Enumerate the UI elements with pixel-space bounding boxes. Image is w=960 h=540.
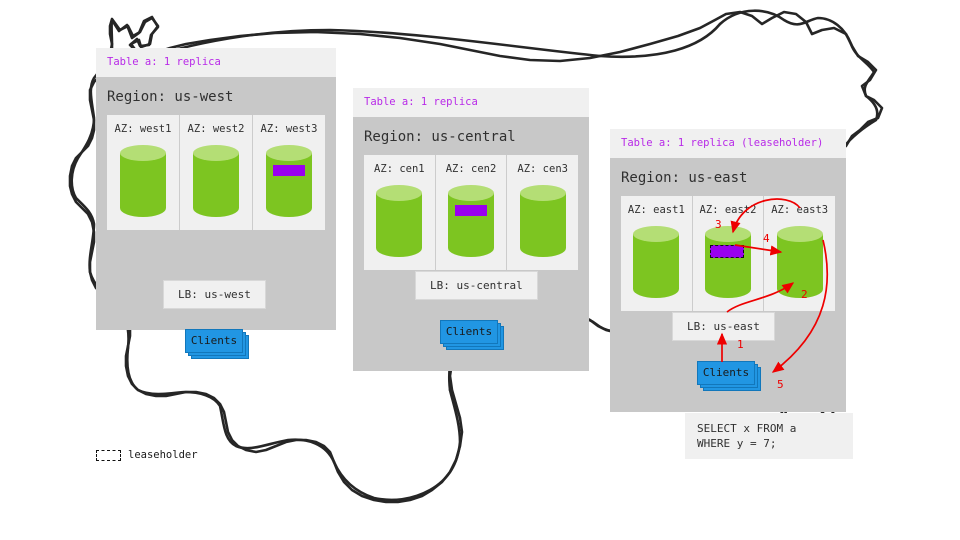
az-west2-label: AZ: west2 (180, 123, 252, 135)
az-east2-label: AZ: east2 (693, 204, 764, 216)
cylinder-top (266, 145, 312, 161)
sql-query-box: SELECT x FROM a WHERE y = 7; (685, 413, 853, 459)
arrow-step-3-number: 3 (715, 218, 722, 231)
legend-label: leaseholder (128, 449, 198, 461)
az-cen2[interactable]: AZ: cen2 (436, 155, 508, 270)
southwest-border (127, 348, 334, 462)
az-east1[interactable]: AZ: east1 (621, 196, 693, 311)
arrow-step-1-number: 1 (737, 338, 744, 351)
az-east1-label: AZ: east1 (621, 204, 692, 216)
az-west1-label: AZ: west1 (107, 123, 179, 135)
arrow-step-2-number: 2 (801, 288, 808, 301)
cylinder-body (266, 153, 312, 217)
legend: leaseholder (96, 449, 198, 461)
az-strip-us-west: AZ: west1 AZ: west2 AZ: west3 (107, 115, 325, 230)
node-cylinder-cen1[interactable] (376, 185, 422, 257)
load-balancer-us-west[interactable]: LB: us-west (163, 280, 266, 309)
cylinder-top (376, 185, 422, 201)
clients-us-west[interactable]: Clients (185, 329, 243, 353)
cylinder-top (120, 145, 166, 161)
node-cylinder-east2[interactable] (705, 226, 751, 298)
node-cylinder-west2[interactable] (193, 145, 239, 217)
cylinder-body (705, 234, 751, 298)
replica-range-bar-west3 (273, 165, 305, 176)
cylinder-top (705, 226, 751, 242)
node-cylinder-cen3[interactable] (520, 185, 566, 257)
az-west3[interactable]: AZ: west3 (253, 115, 325, 230)
az-west3-label: AZ: west3 (253, 123, 325, 135)
node-cylinder-west3[interactable] (266, 145, 312, 217)
replica-range-bar-cen2 (455, 205, 487, 216)
texas-mexico-border (334, 390, 460, 500)
cylinder-top (777, 226, 823, 242)
az-cen2-label: AZ: cen2 (436, 163, 507, 175)
cylinder-body (376, 193, 422, 257)
cylinder-top (520, 185, 566, 201)
cylinder-top (448, 185, 494, 201)
region-title-us-east: Region: us-east (610, 158, 846, 196)
cylinder-body (193, 153, 239, 217)
node-cylinder-east3[interactable] (777, 226, 823, 298)
region-header-us-west: Table a: 1 replica (96, 48, 336, 77)
region-panel-us-west: Table a: 1 replica Region: us-west AZ: w… (96, 48, 336, 330)
diagram-stage: Table a: 1 replica Region: us-west AZ: w… (0, 0, 960, 540)
cylinder-body (777, 234, 823, 298)
az-east3-label: AZ: east3 (764, 204, 835, 216)
cylinder-body (633, 234, 679, 298)
az-cen3-label: AZ: cen3 (507, 163, 578, 175)
load-balancer-us-east[interactable]: LB: us-east (672, 312, 775, 341)
region-panel-us-east: Table a: 1 replica (leaseholder) Region:… (610, 129, 846, 412)
az-west1[interactable]: AZ: west1 (107, 115, 180, 230)
region-header-us-central: Table a: 1 replica (353, 88, 589, 117)
region-panel-us-central: Table a: 1 replica Region: us-central AZ… (353, 88, 589, 371)
region-title-us-central: Region: us-central (353, 117, 589, 155)
az-east2[interactable]: AZ: east2 (693, 196, 765, 311)
clients-label: Clients (440, 320, 498, 344)
leaseholder-swatch-icon (96, 450, 121, 461)
region-title-us-west: Region: us-west (96, 77, 336, 115)
leaseholder-range-bar-east2 (710, 245, 744, 258)
cylinder-top (193, 145, 239, 161)
cylinder-top (633, 226, 679, 242)
arrow-step-4-number: 4 (763, 232, 770, 245)
node-cylinder-cen2[interactable] (448, 185, 494, 257)
clients-label: Clients (697, 361, 755, 385)
node-cylinder-east1[interactable] (633, 226, 679, 298)
clients-us-central[interactable]: Clients (440, 320, 498, 344)
az-cen3[interactable]: AZ: cen3 (507, 155, 578, 270)
node-cylinder-west1[interactable] (120, 145, 166, 217)
cylinder-body (448, 193, 494, 257)
az-west2[interactable]: AZ: west2 (180, 115, 253, 230)
region-header-us-east: Table a: 1 replica (leaseholder) (610, 129, 846, 158)
cylinder-body (120, 153, 166, 217)
cylinder-body (520, 193, 566, 257)
az-cen1[interactable]: AZ: cen1 (364, 155, 436, 270)
az-strip-us-central: AZ: cen1 AZ: cen2 AZ: cen3 (364, 155, 578, 270)
az-east3[interactable]: AZ: east3 (764, 196, 835, 311)
az-cen1-label: AZ: cen1 (364, 163, 435, 175)
load-balancer-us-central[interactable]: LB: us-central (415, 271, 538, 300)
clients-us-east[interactable]: Clients (697, 361, 755, 385)
arrow-step-5-number: 5 (777, 378, 784, 391)
clients-label: Clients (185, 329, 243, 353)
